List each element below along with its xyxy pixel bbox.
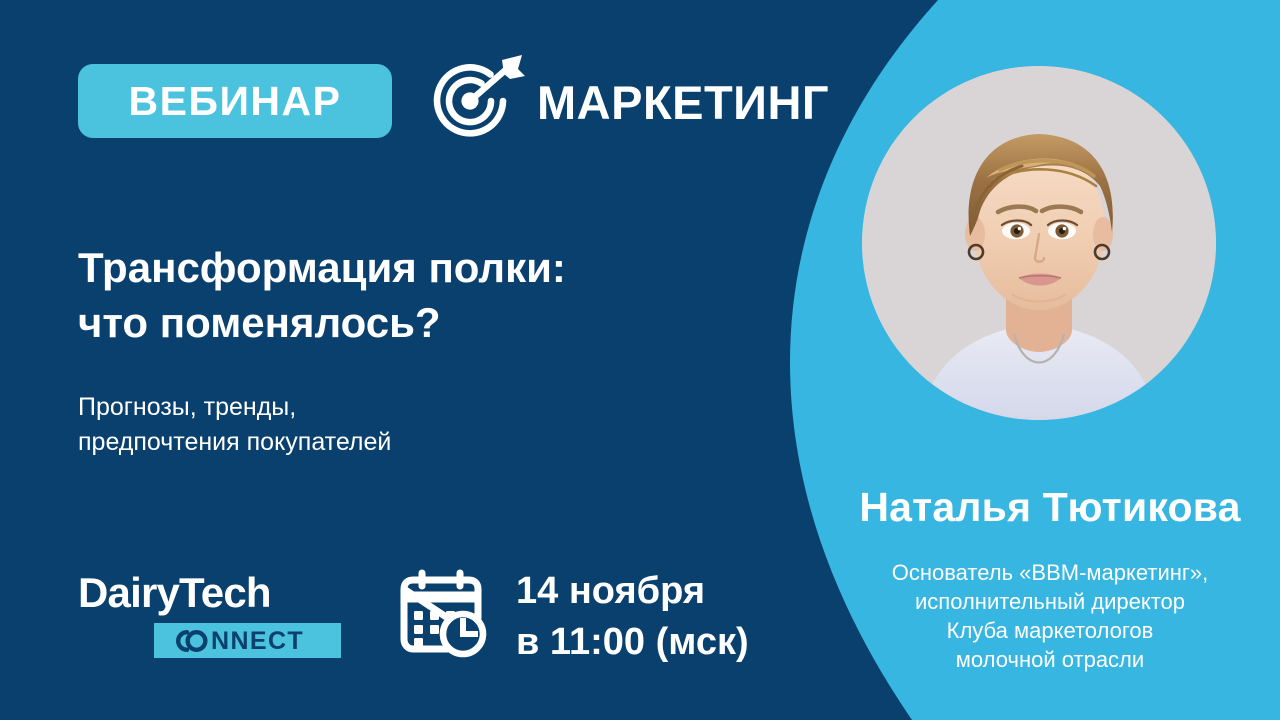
calendar-clock-icon	[398, 569, 494, 665]
page-title: Трансформация полки: что поменялось?	[78, 240, 738, 351]
speaker-portrait	[862, 66, 1216, 420]
event-datetime-text: 14 ноября в 11:00 (мск)	[516, 566, 749, 668]
headline-line-2: что поменялось?	[78, 295, 738, 350]
subhead-line-1: Прогнозы, тренды,	[78, 393, 296, 421]
speaker-name: Наталья Тютикова	[820, 484, 1280, 531]
speaker-title-line-1: Основатель «BBM-маркетинг»,	[820, 558, 1280, 587]
event-time: в 11:00 (мск)	[516, 617, 749, 668]
marketing-label: МАРКЕТИНГ	[537, 75, 829, 130]
connect-badge: NNECT	[154, 623, 341, 658]
webinar-badge-label: ВЕБИНАР	[129, 78, 342, 125]
speaker-title-line-4: молочной отрасли	[820, 645, 1280, 674]
dairytech-logo: DairyTech NNECT	[78, 572, 341, 658]
speaker-title-line-2: исполнительный директор	[820, 587, 1280, 616]
event-datetime-block: 14 ноября в 11:00 (мск)	[398, 566, 749, 668]
svg-text:NNECT: NNECT	[211, 628, 304, 654]
event-date: 14 ноября	[516, 570, 705, 612]
subhead-line-2: предпочтения покупателей	[78, 425, 718, 460]
marketing-lockup: МАРКЕТИНГ	[424, 52, 829, 152]
speaker-title-line-3: Клуба маркетологов	[820, 616, 1280, 645]
webinar-badge: ВЕБИНАР	[78, 64, 392, 138]
target-dart-icon	[424, 52, 528, 152]
dairytech-wordmark: DairyTech	[78, 572, 341, 614]
webinar-announcement-banner: ВЕБИНАР МАРКЕТИНГ Трансформация полки: ч…	[0, 0, 1280, 720]
headline-line-1: Трансформация полки:	[78, 244, 566, 291]
page-subtitle: Прогнозы, тренды, предпочтения покупател…	[78, 390, 718, 459]
connect-wordmark: NNECT	[163, 628, 333, 654]
speaker-title: Основатель «BBM-маркетинг», исполнительн…	[820, 558, 1280, 674]
